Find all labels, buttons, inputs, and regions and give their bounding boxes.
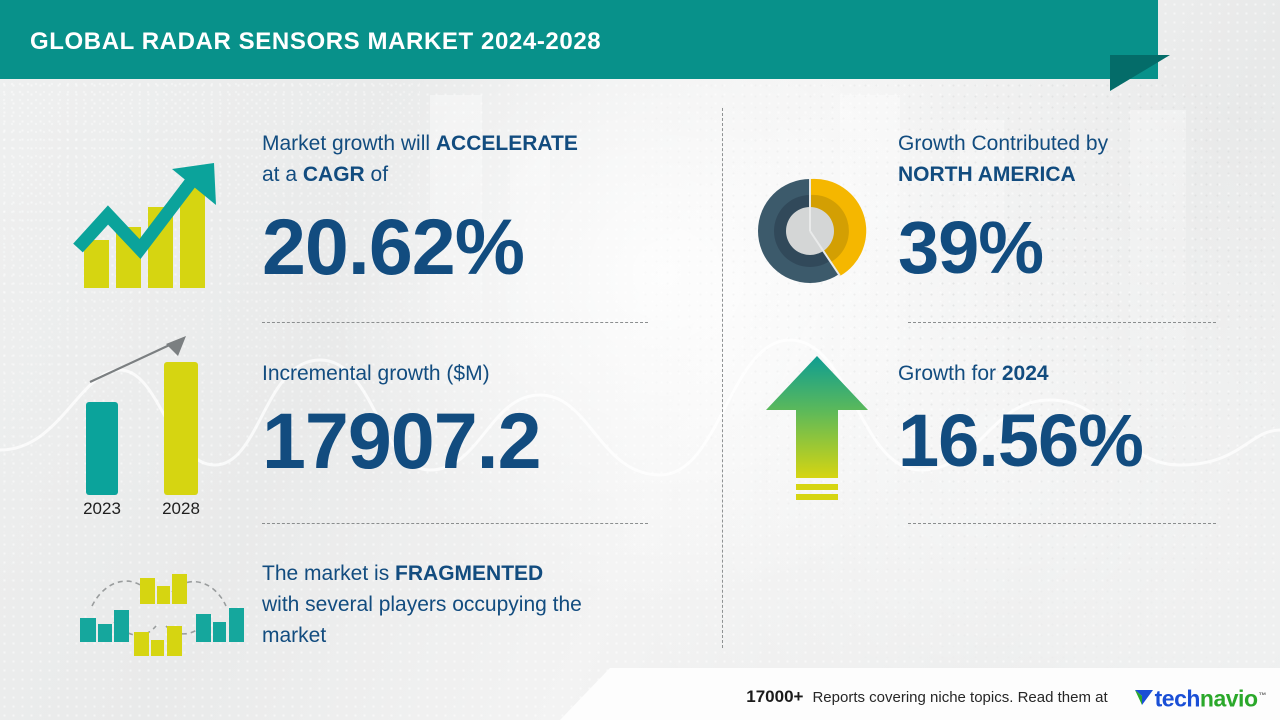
section-divider (908, 523, 1216, 524)
cagr-line1-strong: ACCELERATE (436, 132, 578, 155)
frag-line1-strong: FRAGMENTED (395, 562, 543, 585)
frag-line3: market (262, 624, 326, 647)
growth-label-prefix: Growth for (898, 362, 1002, 385)
incremental-growth-block: Incremental growth ($M) 17907.2 (262, 358, 662, 483)
frag-line2: with several players occupying the (262, 593, 582, 616)
region-line1: Growth Contributed by (898, 132, 1108, 155)
logo-part-tech: tech (1155, 686, 1200, 712)
region-line2-strong: NORTH AMERICA (898, 163, 1076, 186)
growth-chart-icon (72, 145, 232, 295)
region-contribution-block: Growth Contributed by NORTH AMERICA 39% (898, 128, 1228, 288)
footer-content: 17000+ Reports covering niche topics. Re… (746, 684, 1266, 711)
cagr-line2-suffix: of (365, 163, 388, 186)
growth-year-value: 16.56% (898, 401, 1238, 481)
section-divider (262, 322, 648, 323)
cagr-line2-prefix: at a (262, 163, 303, 186)
growth-year-label: Growth for 2024 (898, 358, 1238, 389)
page-title: GLOBAL RADAR SENSORS MARKET 2024-2028 (30, 28, 601, 56)
technavio-wordmark: technavio™ (1155, 684, 1266, 711)
donut-chart-icon (744, 166, 876, 296)
region-value: 39% (898, 208, 1228, 288)
incremental-growth-label: Incremental growth ($M) (262, 358, 662, 389)
technavio-logo[interactable]: technavio™ (1133, 684, 1266, 711)
bar-comparison-icon: 2023 2028 (68, 330, 228, 520)
frag-line1-prefix: The market is (262, 562, 395, 585)
cagr-value: 20.62% (262, 206, 662, 288)
bar-label-2028: 2028 (162, 499, 200, 518)
logo-part-navio: navio (1200, 686, 1258, 712)
section-divider (908, 322, 1216, 323)
footer-text: Reports covering niche topics. Read them… (812, 689, 1107, 706)
column-divider (722, 108, 723, 648)
cagr-line1-prefix: Market growth will (262, 132, 436, 155)
fragmentation-block: The market is FRAGMENTED with several pl… (262, 558, 682, 651)
report-count: 17000+ (746, 687, 803, 707)
technavio-mark-icon (1133, 686, 1155, 708)
cagr-caption: Market growth will ACCELERATE at a CAGR … (262, 128, 662, 190)
cagr-line2-strong: CAGR (303, 163, 365, 186)
section-divider (262, 523, 648, 524)
fragmentation-caption: The market is FRAGMENTED with several pl… (262, 558, 682, 651)
city-cluster-icon (72, 560, 247, 660)
growth-label-strong: 2024 (1002, 362, 1049, 385)
cagr-block: Market growth will ACCELERATE at a CAGR … (262, 128, 662, 288)
bar-label-2023: 2023 (83, 499, 121, 518)
incremental-growth-value: 17907.2 (262, 399, 662, 483)
trademark-symbol: ™ (1259, 691, 1267, 700)
arrow-up-icon (762, 352, 872, 510)
growth-year-block: Growth for 2024 16.56% (898, 358, 1238, 481)
region-caption: Growth Contributed by NORTH AMERICA (898, 128, 1228, 190)
